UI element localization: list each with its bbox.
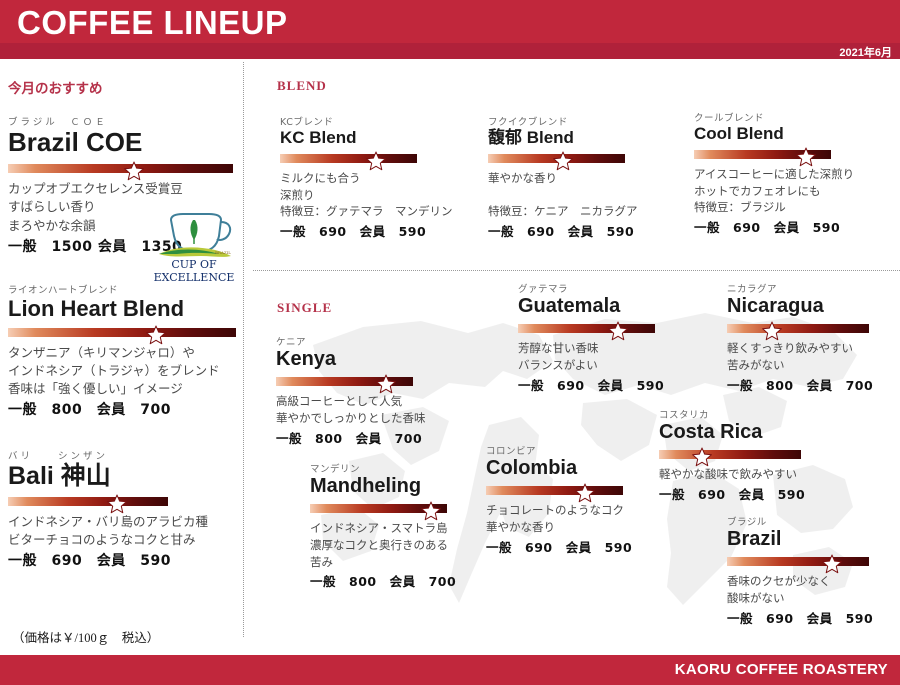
description-line: 香味のクセが少なく <box>727 573 900 590</box>
roast-star-marker <box>365 150 387 172</box>
roast-star-marker <box>145 324 167 346</box>
item-name: Bali 神山 <box>8 462 236 491</box>
roast-star-marker <box>821 553 843 575</box>
item-name: Kenya <box>276 348 456 371</box>
description-line: 苦み <box>310 554 495 571</box>
roast-level-bar <box>694 147 831 161</box>
item-description: 軽やかな酸味で飲みやすい <box>659 466 839 483</box>
section-label-single: SINGLE <box>277 300 332 316</box>
description-line: 酸味がない <box>727 590 900 607</box>
roast-level-bar <box>518 321 655 335</box>
item-description: タンザニア（キリマンジャロ）やインドネシア（トラジャ）をブレンド香味は「強く優し… <box>8 344 236 398</box>
item-name: Guatemala <box>518 295 698 318</box>
description-line: 華やかでしっかりとした香味 <box>276 410 456 427</box>
coffee-item-kenya[interactable]: ケニア Kenya 高級コーヒーとして人気華やかでしっかりとした香味 一般 80… <box>276 338 456 447</box>
description-line: ミルクにも合う <box>280 170 460 187</box>
item-ruby: ケニア <box>276 338 456 348</box>
description-line: ホットでカフェオレにも <box>694 183 879 200</box>
roast-level-bar <box>310 501 447 515</box>
item-price: 一般 690 会員 590 <box>488 221 668 240</box>
coffee-item-guatemala[interactable]: グァテマラ Guatemala 芳醇な甘い香味バランスがよい 一般 690 会員… <box>518 285 698 394</box>
roast-level-bar <box>280 151 417 165</box>
header-date-band <box>0 43 900 59</box>
description-line <box>488 187 668 204</box>
item-description: インドネシア・スマトラ島濃厚なコクと奥行きのある苦み <box>310 520 495 570</box>
item-name: Costa Rica <box>659 421 839 444</box>
coffee-item-fukuiku-blend[interactable]: フクイクブレンド 馥郁 Blend 華やかな香り 特徴豆：ケニア ニカラグア 一… <box>488 118 668 240</box>
item-ruby: クールブレンド <box>694 114 879 124</box>
item-description: カップオブエクセレンス受賞豆すばらしい香りまろやかな余韻 <box>8 180 168 234</box>
item-price: 一般 690 会員 590 <box>694 217 879 236</box>
description-line: インドネシア・スマトラ島 <box>310 520 495 537</box>
section-label-blend: BLEND <box>277 78 327 94</box>
roast-star-marker <box>795 146 817 168</box>
roast-star-marker <box>691 446 713 468</box>
price-note: （価格は￥/100ｇ 税込） <box>12 627 159 646</box>
item-name: Brazil <box>727 528 900 551</box>
item-description: 軽くすっきり飲みやすい苦みがない <box>727 340 900 373</box>
coffee-item-costa-rica[interactable]: コスタリカ Costa Rica 軽やかな酸味で飲みやすい 一般 690 会員 … <box>659 411 839 503</box>
vertical-divider <box>243 62 244 637</box>
roast-level-bar <box>727 554 869 568</box>
description-line: チョコレートのようなコク <box>486 502 666 519</box>
item-price: 一般 690 会員 590 <box>486 537 666 556</box>
item-price: 一般 800 会員 700 <box>276 428 456 447</box>
coffee-item-mandheling[interactable]: マンデリン Mandheling インドネシア・スマトラ島濃厚なコクと奥行きのあ… <box>310 465 495 590</box>
description-line: 特徴豆：グァテマラ マンデリン <box>280 203 460 220</box>
item-description: インドネシア・バリ島のアラビカ種ビターチョコのようなコクと甘み <box>8 513 236 549</box>
item-description: 芳醇な甘い香味バランスがよい <box>518 340 698 373</box>
item-ruby: グァテマラ <box>518 285 698 295</box>
description-line: 軽やかな酸味で飲みやすい <box>659 466 839 483</box>
description-line: 高級コーヒーとして人気 <box>276 393 456 410</box>
description-line: バランスがよい <box>518 357 698 374</box>
page-title: COFFEE LINEUP <box>17 4 288 42</box>
item-description: 華やかな香り 特徴豆：ケニア ニカラグア <box>488 170 668 220</box>
item-ruby: ライオンハートブレンド <box>8 286 236 296</box>
item-price: 一般 800 会員 700 <box>310 571 495 590</box>
item-ruby: ニカラグア <box>727 285 900 295</box>
description-line: 香味は「強く優しい」イメージ <box>8 380 236 398</box>
horizontal-divider <box>253 270 900 271</box>
roast-level-bar <box>276 374 413 388</box>
item-name: Cool Blend <box>694 124 879 144</box>
coffee-item-cool-blend[interactable]: クールブレンド Cool Blend アイスコーヒーに適した深煎りホットでカフェ… <box>694 114 879 236</box>
item-description: チョコレートのようなコク華やかな香り <box>486 502 666 535</box>
item-name: Lion Heart Blend <box>8 296 236 321</box>
item-description: アイスコーヒーに適した深煎りホットでカフェオレにも特徴豆：ブラジル <box>694 166 879 216</box>
roast-level-bar <box>488 151 625 165</box>
description-line: ビターチョコのようなコクと甘み <box>8 531 236 549</box>
description-line: インドネシア（トラジャ）をブレンド <box>8 362 236 380</box>
coffee-item-brazil[interactable]: ブラジル Brazil 香味のクセが少なく酸味がない 一般 690 会員 590 <box>727 518 900 627</box>
description-line: 華やかな香り <box>486 519 666 536</box>
svg-text:CUP OF: CUP OF <box>171 258 217 271</box>
roast-star-marker <box>607 320 629 342</box>
item-ruby: バリ シンザン <box>8 452 236 462</box>
roast-level-bar <box>8 161 233 175</box>
coffee-item-lion-heart-blend[interactable]: ライオンハートブレンド Lion Heart Blend タンザニア（キリマンジ… <box>8 286 236 419</box>
roast-star-marker <box>375 373 397 395</box>
item-price: 一般 690 会員 590 <box>727 608 900 627</box>
description-line: 特徴豆：ブラジル <box>694 199 879 216</box>
coffee-item-kc-blend[interactable]: KCブレンド KC Blend ミルクにも合う深煎り特徴豆：グァテマラ マンデリ… <box>280 118 460 240</box>
coffee-item-colombia[interactable]: コロンビア Colombia チョコレートのようなコク華やかな香り 一般 690… <box>486 447 666 556</box>
item-description: 高級コーヒーとして人気華やかでしっかりとした香味 <box>276 393 456 426</box>
coffee-item-brazil-coe[interactable]: ブラジル ＣＯＥ Brazil COE カップオブエクセレンス受賞豆すばらしい香… <box>8 118 233 256</box>
item-ruby: フクイクブレンド <box>488 118 668 128</box>
svg-text:EXCELLENCE: EXCELLENCE <box>154 271 235 284</box>
roast-level-bar <box>8 325 236 339</box>
description-line: タンザニア（キリマンジャロ）や <box>8 344 236 362</box>
roast-star-marker <box>552 150 574 172</box>
item-ruby: ブラジル <box>727 518 900 528</box>
description-line: カップオブエクセレンス受賞豆 <box>8 180 168 198</box>
item-ruby: コロンビア <box>486 447 666 457</box>
description-line: すばらしい香り <box>8 198 168 216</box>
item-price: 一般 800 会員 700 <box>8 399 236 419</box>
item-name: KC Blend <box>280 128 460 148</box>
brand-name: KAORU COFFEE ROASTERY <box>675 661 888 678</box>
description-line: 華やかな香り <box>488 170 668 187</box>
description-line: 芳醇な甘い香味 <box>518 340 698 357</box>
item-name: Brazil COE <box>8 128 233 158</box>
item-name: Colombia <box>486 457 666 480</box>
item-price: 一般 690 会員 590 <box>8 550 236 570</box>
item-description: 香味のクセが少なく酸味がない <box>727 573 900 606</box>
roast-star-marker <box>106 493 128 515</box>
description-line: インドネシア・バリ島のアラビカ種 <box>8 513 236 531</box>
item-name: 馥郁 Blend <box>488 128 668 148</box>
roast-level-bar <box>659 447 801 461</box>
item-price: 一般 690 会員 590 <box>280 221 460 240</box>
roast-star-marker <box>123 160 145 182</box>
item-ruby: KCブレンド <box>280 118 460 128</box>
item-description: ミルクにも合う深煎り特徴豆：グァテマラ マンデリン <box>280 170 460 220</box>
item-name: Mandheling <box>310 475 495 498</box>
description-line: まろやかな余韻 <box>8 217 168 235</box>
item-price: 一般 690 会員 590 <box>659 484 839 503</box>
coffee-item-bali-shinzan[interactable]: バリ シンザン Bali 神山 インドネシア・バリ島のアラビカ種ビターチョコのよ… <box>8 452 236 570</box>
roast-level-bar <box>486 483 623 497</box>
roast-star-marker <box>420 500 442 522</box>
section-label-recommend: 今月のおすすめ <box>8 77 103 97</box>
description-line: 特徴豆：ケニア ニカラグア <box>488 203 668 220</box>
issue-date: 2021年6月 <box>839 44 892 60</box>
description-line: アイスコーヒーに適した深煎り <box>694 166 879 183</box>
roast-level-bar <box>727 321 869 335</box>
description-line: 苦みがない <box>727 357 900 374</box>
description-line: 深煎り <box>280 187 460 204</box>
roast-star-marker <box>761 320 783 342</box>
item-ruby: マンデリン <box>310 465 495 475</box>
item-price: 一般 800 会員 700 <box>727 375 900 394</box>
description-line: 濃厚なコクと奥行きのある <box>310 537 495 554</box>
cup-of-excellence-badge: BRAZIL CUP OF EXCELLENCE <box>153 206 235 284</box>
svg-text:BRAZIL: BRAZIL <box>215 250 231 255</box>
roast-level-bar <box>8 494 168 508</box>
description-line: 軽くすっきり飲みやすい <box>727 340 900 357</box>
item-price: 一般 690 会員 590 <box>518 375 698 394</box>
coffee-item-nicaragua[interactable]: ニカラグア Nicaragua 軽くすっきり飲みやすい苦みがない 一般 800 … <box>727 285 900 394</box>
item-ruby: コスタリカ <box>659 411 839 421</box>
coffee-lineup-poster: COFFEE LINEUP 2021年6月 <box>0 0 900 685</box>
item-name: Nicaragua <box>727 295 900 318</box>
roast-star-marker <box>574 482 596 504</box>
